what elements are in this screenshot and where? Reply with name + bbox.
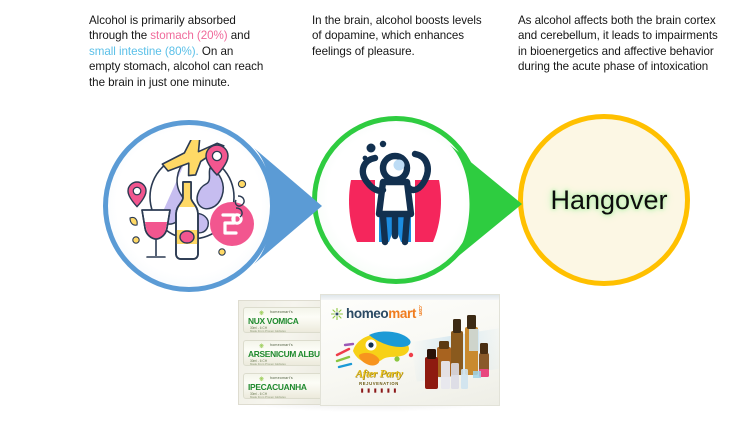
- tube-name: IPECACUANHA: [248, 382, 307, 392]
- sparkle-icon: [331, 308, 343, 320]
- caption-dopamine-text: In the brain, alcohol boosts levels of d…: [312, 14, 482, 58]
- logo-homeo-text: homeo: [346, 306, 388, 321]
- remedy-bottles-group: [421, 313, 497, 401]
- product-carton: homeo mart .com: [320, 294, 500, 406]
- tube-brand: homeomart's: [270, 310, 293, 314]
- arrow-blue: [252, 146, 324, 266]
- tube-name: ARSENICUM ALBUM: [248, 349, 326, 359]
- caption-impairment-text: As alcohol affects both the brain cortex…: [518, 14, 718, 73]
- party-artwork: [335, 325, 421, 373]
- tube-brand: homeomart's: [270, 343, 293, 347]
- hangover-label: Hangover: [518, 114, 690, 286]
- carton-top-edge: [321, 295, 499, 300]
- kit-title-block: After Party REJUVENATION ▮ ▮ ▮ ▮ ▮ ▮: [341, 369, 417, 394]
- logo-mart-text: mart: [388, 306, 416, 321]
- caption-dopamine: In the brain, alcohol boosts levels of d…: [312, 13, 484, 59]
- caption-absorption-part-2: and: [228, 29, 250, 42]
- caption-impairment: As alcohol affects both the brain cortex…: [518, 13, 718, 75]
- infographic-canvas: Alcohol is primarily absorbed through th…: [0, 0, 750, 422]
- arrow-green: [448, 143, 524, 265]
- tube-footer: Made From Proven Globules: [250, 329, 286, 333]
- caption-absorption: Alcohol is primarily absorbed through th…: [89, 13, 265, 90]
- stage-circle-drinking: [103, 120, 275, 292]
- kit-subtitle: REJUVENATION: [341, 381, 417, 386]
- kit-title: After Party: [341, 369, 417, 380]
- tube-footer: Made From Proven Globules: [250, 362, 286, 366]
- caption-absorption-highlight-stomach: stomach (20%): [150, 29, 227, 42]
- homeomart-logo: homeo mart .com: [331, 306, 423, 321]
- tube-name: NUX VOMICA: [248, 316, 299, 326]
- caption-absorption-highlight-intestine: small intestine (80%).: [89, 45, 199, 58]
- tube-brand: homeomart's: [270, 376, 293, 380]
- tube-footer: Made From Proven Globules: [250, 395, 286, 399]
- product-photo: ❋ homeomart's NUX VOMICA 30ml - 6 CH Mad…: [238, 294, 500, 410]
- kit-contents-icons: ▮ ▮ ▮ ▮ ▮ ▮: [341, 388, 417, 394]
